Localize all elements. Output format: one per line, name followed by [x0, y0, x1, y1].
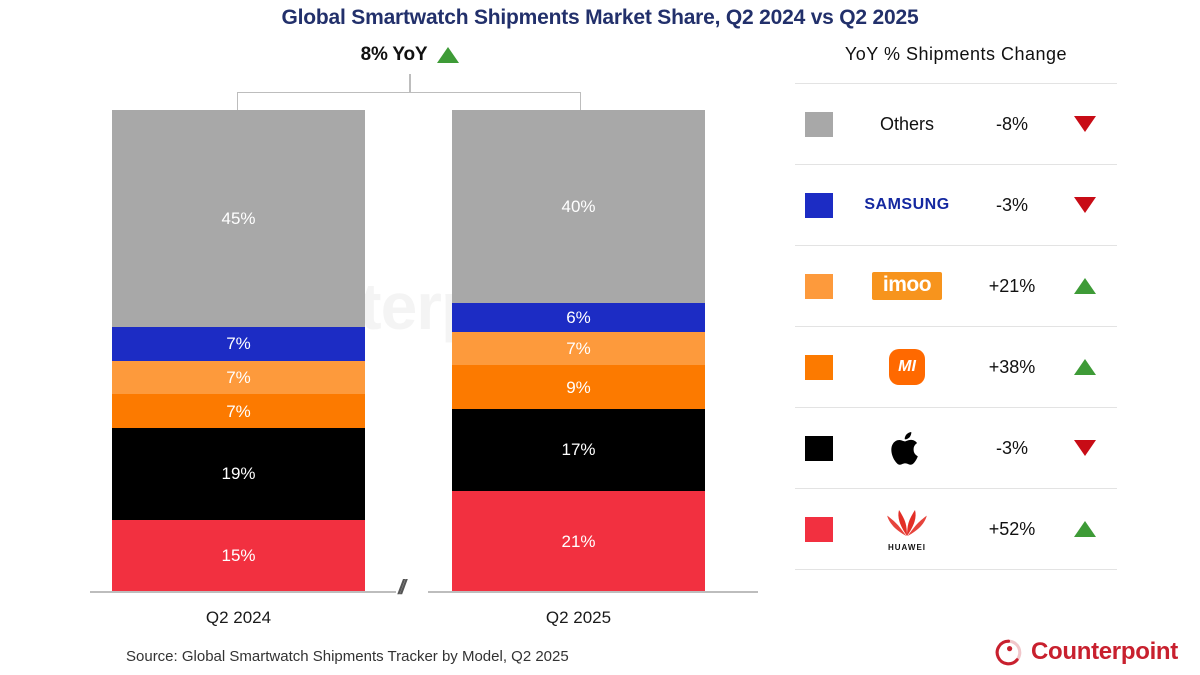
- segment-value-label: 40%: [561, 198, 595, 215]
- segment-value-label: 45%: [221, 210, 255, 227]
- yoy-change-huawei: +52%: [971, 519, 1053, 540]
- yoy-change-imoo: +21%: [971, 276, 1053, 297]
- legend-row-imoo[interactable]: imoo +21%: [795, 245, 1117, 326]
- legend-row-samsung[interactable]: SAMSUNG -3%: [795, 164, 1117, 245]
- triangle-up-icon: [1053, 278, 1117, 294]
- legend-row-huawei[interactable]: HUAWEI +52%: [795, 488, 1117, 570]
- chart-plot-area: 45% 7% 7% 7% 19% 15% 40% 6% 7% 9%: [0, 0, 760, 675]
- huawei-wordmark: HUAWEI: [884, 543, 930, 552]
- counterpoint-mark-icon: [995, 639, 1022, 666]
- apple-logo-icon: [843, 425, 971, 471]
- axis-break-marker: //: [398, 577, 403, 600]
- segment-apple-2025[interactable]: 17%: [452, 409, 705, 491]
- triangle-down-icon: [1053, 197, 1117, 213]
- segment-value-label: 7%: [226, 335, 251, 352]
- counterpoint-wordmark: Counterpoint: [1031, 638, 1178, 666]
- huawei-flower-icon: [884, 507, 930, 537]
- segment-others-2025[interactable]: 40%: [452, 110, 705, 303]
- segment-value-label: 21%: [561, 533, 595, 550]
- yoy-change-others: -8%: [971, 114, 1053, 135]
- color-swatch-imoo: [805, 274, 833, 299]
- brand-logo-samsung: SAMSUNG: [843, 182, 971, 228]
- segment-imoo-2025[interactable]: 7%: [452, 332, 705, 366]
- legend-table: YoY % Shipments Change Others -8% SAMSUN…: [795, 44, 1117, 570]
- brand-logo-imoo: imoo: [843, 263, 971, 309]
- brand-label-others: Others: [843, 101, 971, 147]
- color-swatch-apple: [805, 436, 833, 461]
- segment-value-label: 17%: [561, 441, 595, 458]
- triangle-down-icon: [1053, 440, 1117, 456]
- segment-samsung-2024[interactable]: 7%: [112, 327, 365, 361]
- segment-xiaomi-2025[interactable]: 9%: [452, 365, 705, 408]
- legend-title: YoY % Shipments Change: [795, 44, 1117, 65]
- x-axis-line-right: [428, 591, 758, 593]
- segment-imoo-2024[interactable]: 7%: [112, 361, 365, 395]
- segment-others-2024[interactable]: 45%: [112, 110, 365, 327]
- yoy-change-apple: -3%: [971, 438, 1053, 459]
- legend-row-apple[interactable]: -3%: [795, 407, 1117, 488]
- segment-xiaomi-2024[interactable]: 7%: [112, 394, 365, 428]
- mi-icon: MI: [889, 349, 925, 385]
- segment-samsung-2025[interactable]: 6%: [452, 303, 705, 332]
- segment-value-label: 9%: [566, 379, 591, 396]
- yoy-change-xiaomi: +38%: [971, 357, 1053, 378]
- segment-apple-2024[interactable]: 19%: [112, 428, 365, 520]
- x-axis-line-left: [90, 591, 396, 593]
- legend-row-xiaomi[interactable]: MI +38%: [795, 326, 1117, 407]
- segment-huawei-2025[interactable]: 21%: [452, 491, 705, 592]
- counterpoint-logo: Counterpoint: [995, 638, 1178, 666]
- segment-value-label: 7%: [226, 369, 251, 386]
- color-swatch-samsung: [805, 193, 833, 218]
- yoy-change-samsung: -3%: [971, 195, 1053, 216]
- brand-logo-xiaomi: MI: [843, 344, 971, 390]
- triangle-up-icon: [1053, 521, 1117, 537]
- x-axis-label-q2-2024: Q2 2024: [112, 608, 365, 628]
- source-note: Source: Global Smartwatch Shipments Trac…: [126, 648, 569, 665]
- color-swatch-xiaomi: [805, 355, 833, 380]
- segment-value-label: 7%: [566, 340, 591, 357]
- brand-logo-huawei: HUAWEI: [843, 506, 971, 552]
- segment-value-label: 6%: [566, 309, 591, 326]
- x-axis-label-q2-2025: Q2 2025: [452, 608, 705, 628]
- stacked-bar-q2-2024: 45% 7% 7% 7% 19% 15%: [112, 110, 365, 592]
- segment-value-label: 19%: [221, 465, 255, 482]
- triangle-down-icon: [1053, 116, 1117, 132]
- segment-value-label: 15%: [221, 547, 255, 564]
- segment-value-label: 7%: [226, 403, 251, 420]
- legend-row-others[interactable]: Others -8%: [795, 83, 1117, 164]
- color-swatch-huawei: [805, 517, 833, 542]
- segment-huawei-2024[interactable]: 15%: [112, 520, 365, 592]
- color-swatch-others: [805, 112, 833, 137]
- stacked-bar-q2-2025: 40% 6% 7% 9% 17% 21%: [452, 110, 705, 592]
- triangle-up-icon: [1053, 359, 1117, 375]
